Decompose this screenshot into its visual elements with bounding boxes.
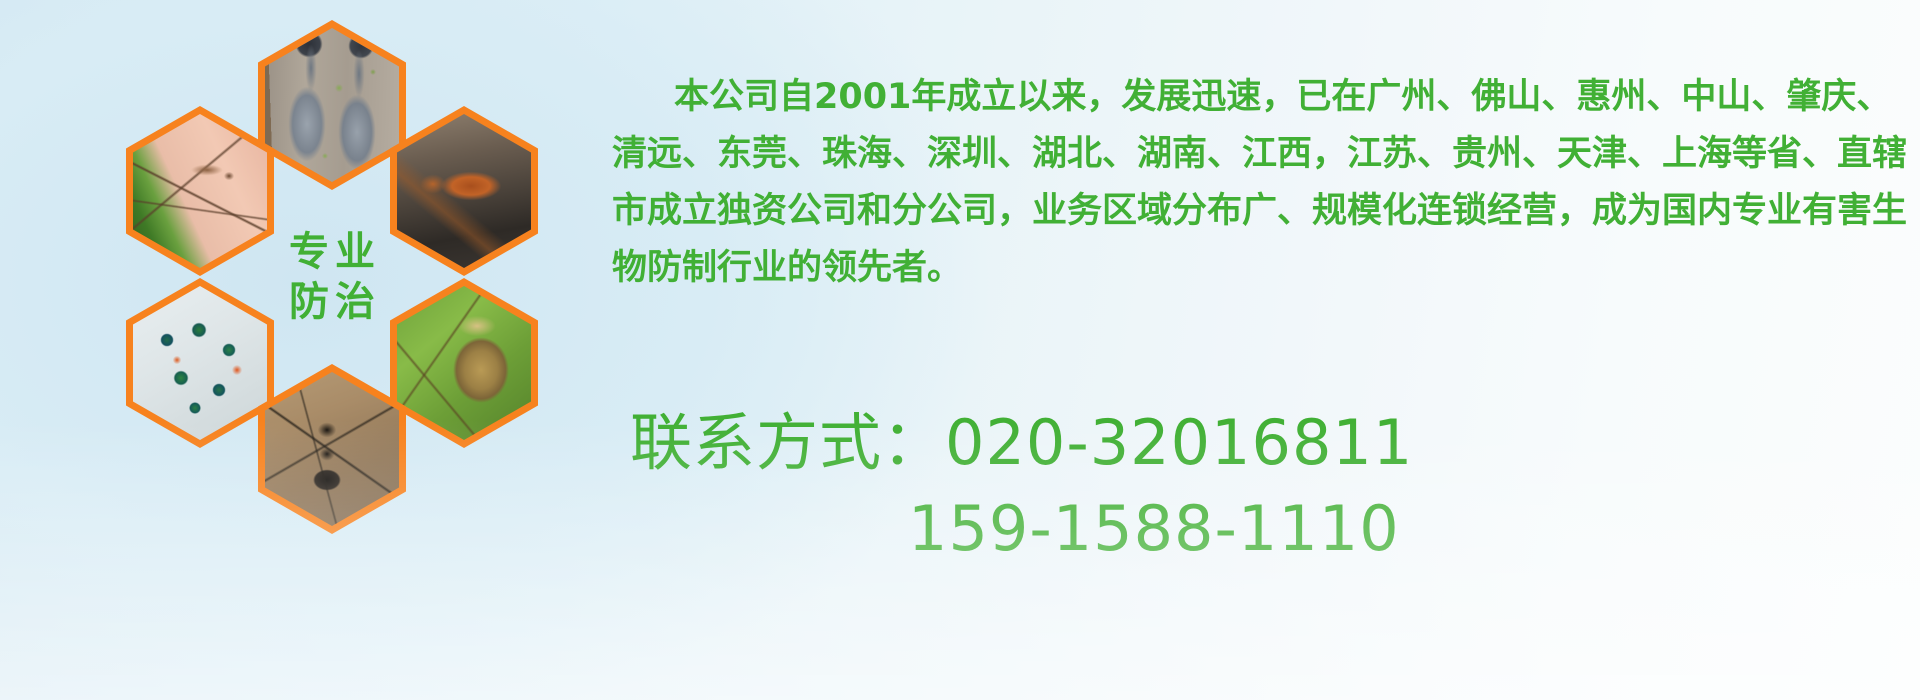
hexagon-mosquito-photo — [126, 106, 274, 276]
stink-bug-image — [397, 286, 531, 440]
mosquito-image — [133, 114, 267, 268]
hexagon-fly-photo — [126, 278, 274, 448]
contact-phone-line-1[interactable]: 联系方式：020-32016811 — [612, 400, 1912, 486]
company-intro-paragraph: 本公司自2001年成立以来，发展迅速，已在广州、佛山、惠州、中山、肇庆、清远、东… — [612, 69, 1912, 297]
cockroach-image — [397, 114, 531, 268]
slogan-line-2: 防治 — [283, 282, 381, 322]
rat-image — [265, 28, 399, 182]
logo-slogan: 专业 防治 — [258, 192, 406, 362]
hexagon-cockroach-photo — [390, 106, 538, 276]
banner-content: 本公司自2001年成立以来，发展迅速，已在广州、佛山、惠州、中山、肇庆、清远、东… — [612, 0, 1912, 700]
hexagon-rat-photo — [258, 20, 406, 190]
hexagon-stinkbug-photo — [390, 278, 538, 448]
ant-image — [265, 372, 399, 526]
fly-swarm-image — [133, 286, 267, 440]
contact-block: 联系方式：020-32016811 159-1588-1110 — [612, 400, 1912, 572]
hexagon-ant-photo — [258, 364, 406, 534]
slogan-line-1: 专业 — [283, 232, 381, 272]
hexagon-logo-cluster: 专业 防治 — [88, 6, 588, 546]
contact-phone-line-2[interactable]: 159-1588-1110 — [612, 486, 1912, 572]
pest-control-banner: 专业 防治 本公司自2001年成立以来，发展迅速，已在广州、佛山、惠州、中山、肇… — [0, 0, 1920, 700]
